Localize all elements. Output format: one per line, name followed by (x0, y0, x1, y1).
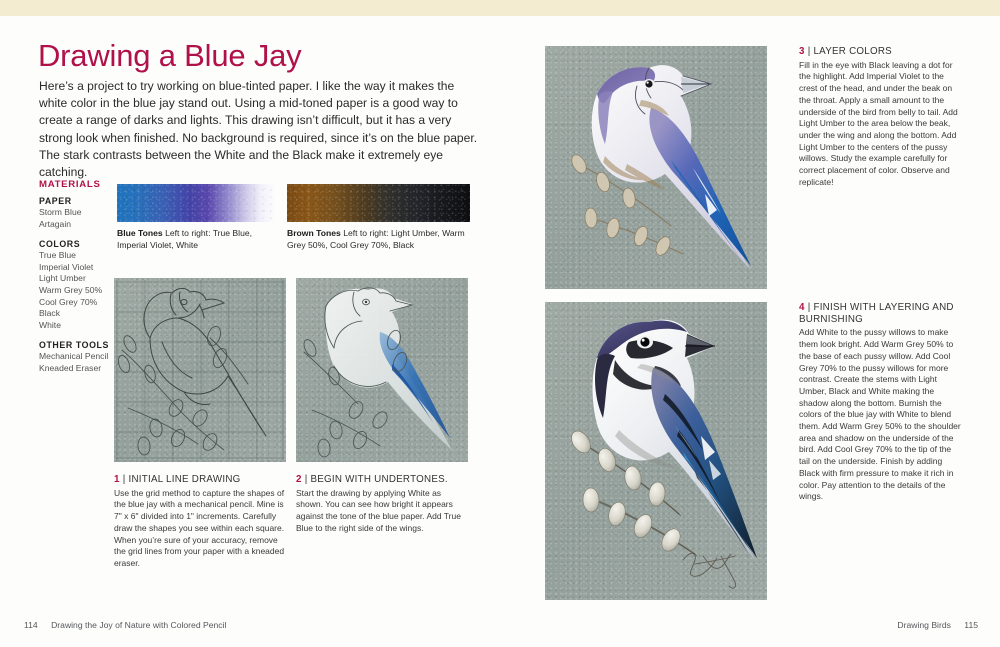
step-1-heading: 1 | INITIAL LINE DRAWING (114, 474, 286, 486)
footer-left: 114 Drawing the Joy of Nature with Color… (24, 620, 226, 630)
left-running-head: Drawing the Joy of Nature with Colored P… (51, 620, 226, 630)
material-item: Warm Grey 50% (39, 285, 123, 297)
finished-artwork (545, 302, 767, 600)
right-page-number: 115 (964, 620, 978, 630)
step-1-caption: 1 | INITIAL LINE DRAWING Use the grid me… (114, 474, 286, 570)
swatch-blue-tones (117, 184, 274, 222)
left-page-number: 114 (24, 620, 38, 630)
step-number: 2 (296, 474, 302, 485)
step-1-image (114, 278, 286, 462)
materials-group-paper: PAPER Storm Blue Artagain (39, 196, 123, 230)
step-number: 4 (799, 302, 805, 313)
swatch-label: Blue Tones (117, 228, 163, 238)
step-heading-text: INITIAL LINE DRAWING (128, 474, 240, 485)
page-title: Drawing a Blue Jay (38, 38, 301, 74)
material-item: Artagain (39, 219, 123, 231)
materials-group-other-tools: OTHER TOOLS Mechanical Pencil Kneaded Er… (39, 340, 123, 374)
step-number: 1 (114, 474, 120, 485)
material-item: Kneaded Eraser (39, 363, 123, 375)
step-2-image (296, 278, 468, 462)
material-item: Imperial Violet (39, 262, 123, 274)
footer-right: Drawing Birds 115 (897, 620, 978, 630)
material-item: White (39, 320, 123, 332)
materials-group-colors: COLORS True Blue Imperial Violet Light U… (39, 239, 123, 331)
material-item: Mechanical Pencil (39, 351, 123, 363)
step-heading-text: BEGIN WITH UNDERTONES. (310, 474, 447, 485)
step-body-text: Fill in the eye with Black leaving a dot… (799, 60, 958, 187)
materials-group-label: OTHER TOOLS (39, 340, 123, 350)
step-number: 3 (799, 46, 805, 57)
step-3-image (545, 46, 767, 289)
material-item: Light Umber (39, 273, 123, 285)
right-running-head: Drawing Birds (897, 620, 951, 630)
step-body-text: Start the drawing by applying White as s… (296, 488, 461, 533)
book-spread: Drawing a Blue Jay Here’s a project to t… (0, 0, 1000, 647)
swatch-grain-texture (287, 184, 470, 222)
material-item: Cool Grey 70% (39, 297, 123, 309)
step-4-heading: 4 | FINISH WITH LAYERING AND BURNISHING (799, 302, 961, 325)
materials-group-label: PAPER (39, 196, 123, 206)
step-3-heading: 3 | LAYER COLORS (799, 46, 961, 58)
materials-list: PAPER Storm Blue Artagain COLORS True Bl… (39, 196, 123, 384)
step-2-heading: 2 | BEGIN WITH UNDERTONES. (296, 474, 468, 486)
step-4-caption: 4 | FINISH WITH LAYERING AND BURNISHING … (799, 302, 961, 503)
line-drawing-artwork (114, 278, 286, 462)
swatch-caption-blue: Blue Tones Left to right: True Blue, Imp… (117, 228, 277, 252)
material-item: Storm Blue (39, 207, 123, 219)
undertone-drawing-artwork (296, 278, 468, 462)
material-item: True Blue (39, 250, 123, 262)
layered-color-artwork (545, 46, 767, 289)
step-body-text: Add White to the pussy willows to make t… (799, 327, 961, 501)
materials-heading: MATERIALS (39, 179, 101, 190)
step-body-text: Use the grid method to capture the shape… (114, 488, 284, 568)
material-item: Black (39, 308, 123, 320)
step-heading-text: FINISH WITH LAYERING AND BURNISHING (799, 302, 954, 325)
swatch-label: Brown Tones (287, 228, 341, 238)
step-4-image (545, 302, 767, 600)
step-2-caption: 2 | BEGIN WITH UNDERTONES. Start the dra… (296, 474, 468, 535)
swatch-caption-brown: Brown Tones Left to right: Light Umber, … (287, 228, 477, 252)
swatch-grain-texture (117, 184, 274, 222)
step-3-caption: 3 | LAYER COLORS Fill in the eye with Bl… (799, 46, 961, 188)
top-color-band (0, 0, 1000, 16)
intro-paragraph: Here’s a project to try working on blue-… (39, 78, 479, 181)
materials-group-label: COLORS (39, 239, 123, 249)
step-heading-text: LAYER COLORS (813, 46, 892, 57)
swatch-brown-tones (287, 184, 470, 222)
